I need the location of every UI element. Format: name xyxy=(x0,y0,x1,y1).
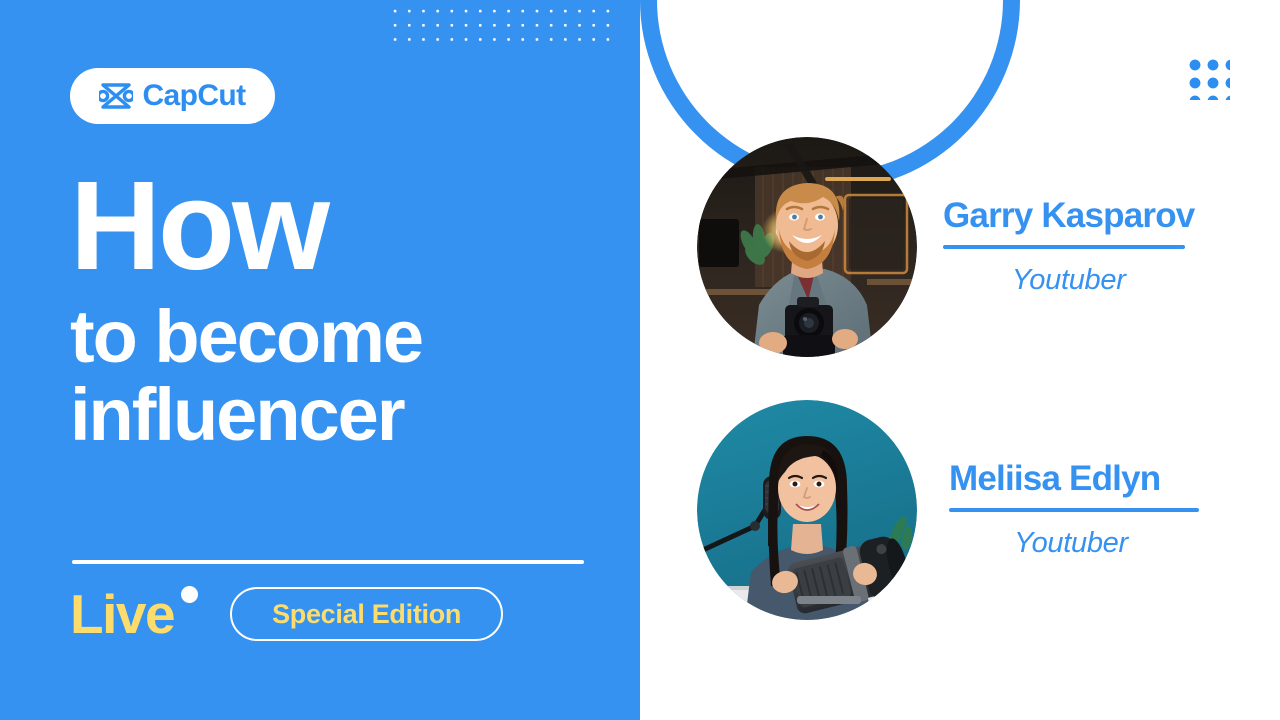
page-title: How to become influencer xyxy=(70,168,630,455)
speaker-card-2[interactable]: Meliisa Edlyn Youtuber xyxy=(697,400,1199,620)
capcut-logo-text: CapCut xyxy=(142,81,245,111)
speaker-name-underline xyxy=(949,508,1199,512)
live-badge-row: Live Special Edition xyxy=(70,583,503,645)
special-edition-button[interactable]: Special Edition xyxy=(230,587,503,641)
avatar xyxy=(697,137,917,357)
capcut-logo-badge[interactable]: CapCut xyxy=(70,68,275,124)
avatar xyxy=(697,400,917,620)
live-badge: Live xyxy=(70,587,174,642)
speaker-name: Meliisa Edlyn xyxy=(949,460,1160,499)
speaker-card-1[interactable]: Garry Kasparov Youtuber xyxy=(697,137,1194,357)
headline-line-2: to become xyxy=(70,298,630,376)
capcut-hourglass-icon xyxy=(99,81,133,111)
speaker-role: Youtuber xyxy=(1012,264,1126,297)
horizontal-divider xyxy=(72,560,584,564)
headline-line-1: How xyxy=(70,168,630,284)
blue-dot-grid-decoration xyxy=(1186,56,1230,100)
speaker-role: Youtuber xyxy=(1014,527,1128,560)
special-edition-label: Special Edition xyxy=(272,599,461,630)
speaker-info-1: Garry Kasparov Youtuber xyxy=(943,197,1194,297)
white-dot-grid-decoration xyxy=(388,4,614,50)
speaker-name: Garry Kasparov xyxy=(943,197,1194,236)
speaker-info-2: Meliisa Edlyn Youtuber xyxy=(943,460,1199,560)
left-blue-panel: CapCut How to become influencer Live Spe… xyxy=(0,0,640,720)
live-indicator-dot-icon xyxy=(181,586,198,603)
speaker-name-underline xyxy=(943,245,1185,249)
poster-canvas: CapCut How to become influencer Live Spe… xyxy=(0,0,1280,720)
live-label: Live xyxy=(70,583,174,645)
headline-line-3: influencer xyxy=(70,376,630,454)
